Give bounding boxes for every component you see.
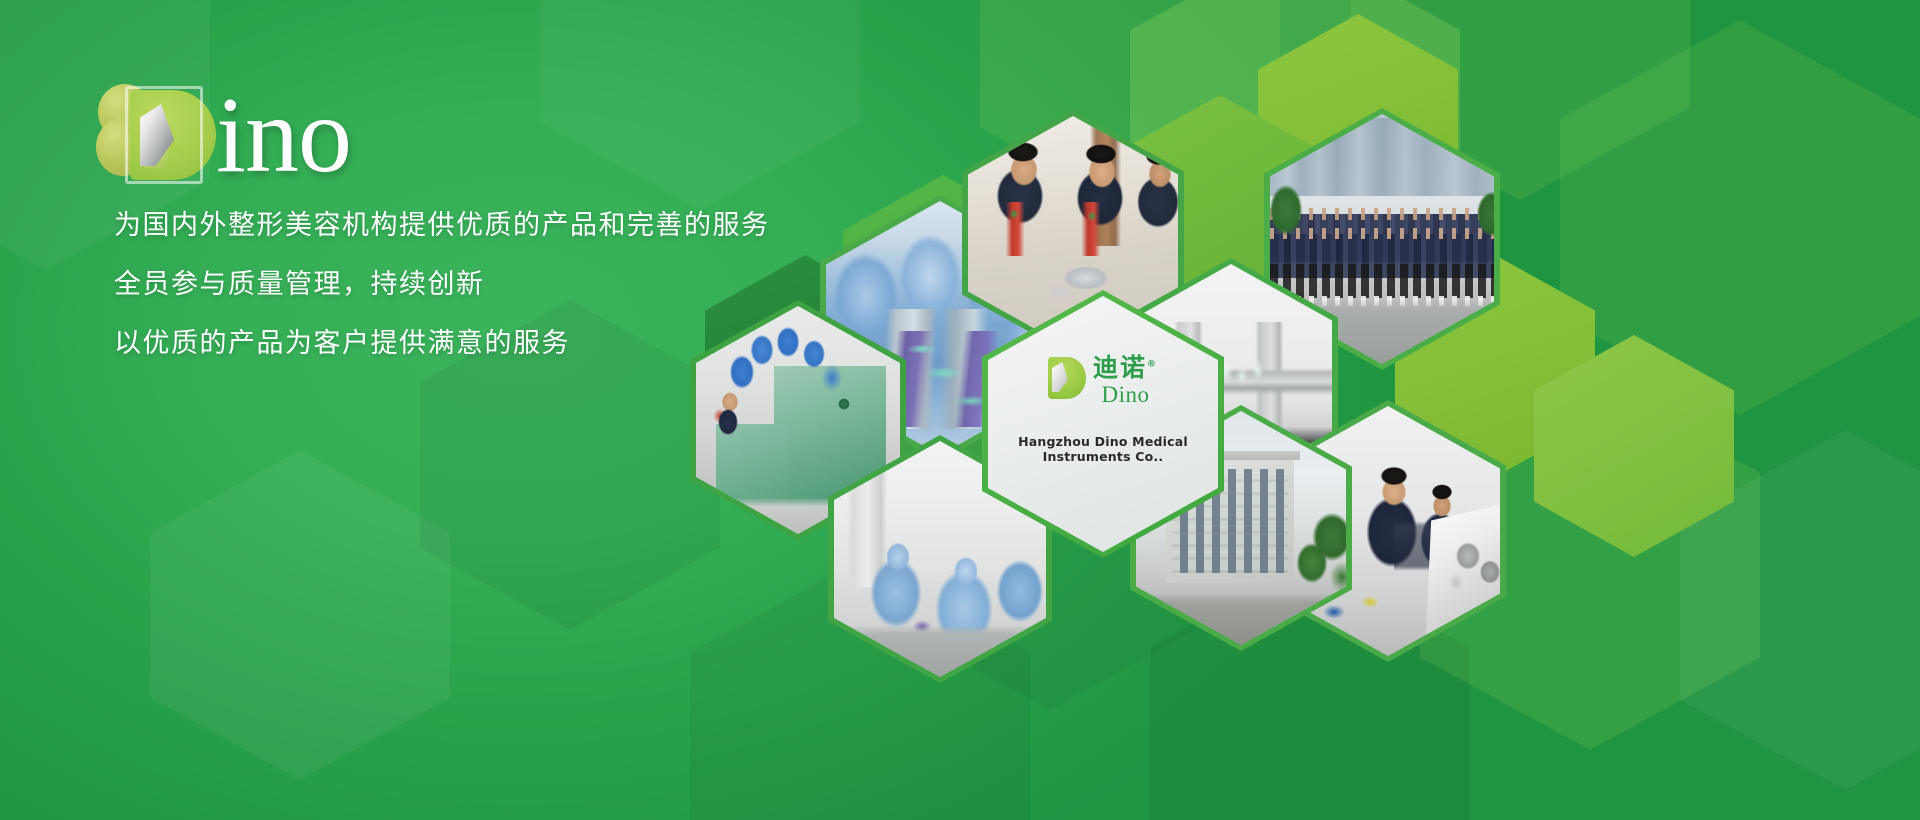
logo-chinese-name: 迪诺® [1093,348,1158,384]
registered-trademark-icon: ® [1147,360,1158,370]
banner-root: ino 为国内外整形美容机构提供优质的产品和完善的服务 全员参与质量管理，持续创… [0,0,1920,820]
logo-hexagon-caption: Hangzhou Dino Medical Instruments Co.. [988,434,1218,464]
logo-chinese-name-text: 迪诺 [1093,353,1147,382]
logo-hexagon-content: 迪诺® Dino Hangzhou Dino Medical Instrumen… [988,348,1218,464]
logo-english-name: Dino [1093,382,1158,408]
dino-leaf-mark-icon [1048,357,1086,399]
logo-hexagon-mark-row: 迪诺® Dino [988,348,1218,408]
hexagon-photo-cluster: 迪诺® Dino Hangzhou Dino Medical Instrumen… [0,0,1920,820]
